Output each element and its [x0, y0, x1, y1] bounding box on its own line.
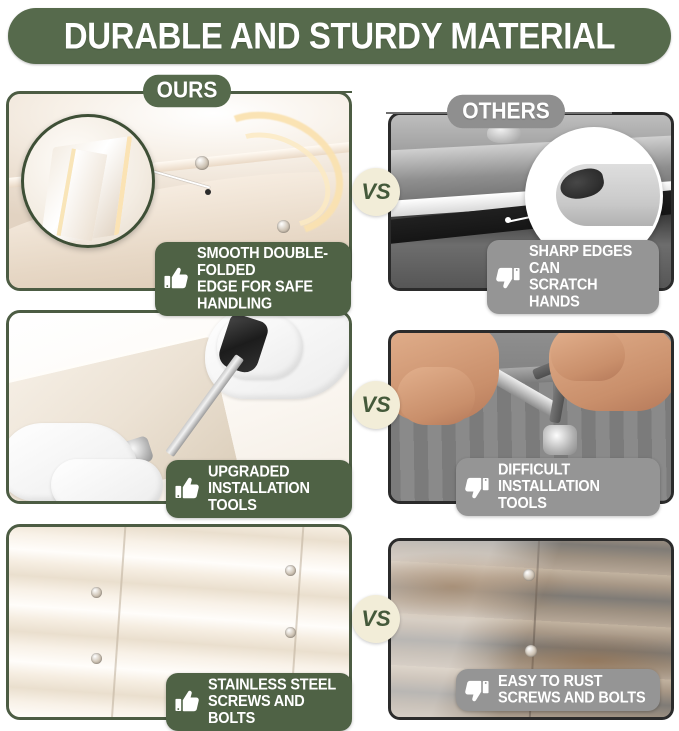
- others-connector-line-left: [386, 112, 454, 114]
- page-title: DURABLE AND STURDY MATERIAL: [64, 15, 615, 58]
- ours-connector-line-left: [26, 91, 148, 93]
- vs-badge-row1: VS: [352, 168, 400, 216]
- magnifier-circle-folded-edge: [21, 114, 155, 248]
- ours-connector-line-right: [226, 91, 352, 93]
- wrench-head-on-bolt: [543, 425, 577, 455]
- vs-label: VS: [361, 606, 390, 632]
- header-banner: DURABLE AND STURDY MATERIAL: [8, 8, 671, 64]
- vs-label: VS: [361, 392, 390, 418]
- vs-label: VS: [361, 179, 390, 205]
- others-connector-line-right: [560, 112, 612, 114]
- caption-ours-hardware-quality: STAINLESS STEEL SCREWS AND BOLTS: [166, 673, 352, 731]
- caption-text: DIFFICULT INSTALLATION TOOLS: [498, 462, 650, 513]
- thumbs-down-icon: [462, 675, 492, 705]
- stainless-screw: [285, 627, 296, 638]
- stainless-screw: [285, 565, 296, 576]
- column-badge-ours: OURS: [143, 75, 231, 107]
- rusted-screw: [523, 569, 535, 581]
- thumbs-down-icon: [462, 472, 492, 502]
- caption-others-rusty-screws: EASY TO RUST SCREWS AND BOLTS: [456, 669, 660, 711]
- caption-ours-installation-tools: UPGRADED INSTALLATION TOOLS: [166, 460, 352, 518]
- vs-badge-row2: VS: [352, 381, 400, 429]
- screw-head: [195, 156, 209, 170]
- column-badge-others-label: OTHERS: [462, 99, 550, 125]
- caption-text: STAINLESS STEEL SCREWS AND BOLTS: [208, 677, 342, 728]
- caption-others-sharp-edge: SHARP EDGES CAN SCRATCH HANDS: [487, 240, 659, 314]
- screw-head: [277, 220, 290, 233]
- vs-badge-row3: VS: [352, 595, 400, 643]
- bare-fingers-right: [551, 330, 625, 381]
- bare-fingers-left: [397, 367, 475, 425]
- caption-text: EASY TO RUST SCREWS AND BOLTS: [498, 673, 645, 707]
- rusted-screw: [525, 645, 537, 657]
- caption-text: SMOOTH DOUBLE-FOLDED EDGE FOR SAFE HANDL…: [197, 245, 341, 313]
- callout-pointer-dot: [505, 217, 511, 223]
- thumbs-down-icon: [493, 262, 523, 292]
- gloved-fingers-lower: [51, 459, 163, 504]
- stainless-screw: [91, 587, 102, 598]
- caption-ours-edge-safety: SMOOTH DOUBLE-FOLDED EDGE FOR SAFE HANDL…: [155, 242, 351, 316]
- caption-others-installation-tools: DIFFICULT INSTALLATION TOOLS: [456, 458, 660, 516]
- thumbs-up-icon: [161, 264, 191, 294]
- caption-text: UPGRADED INSTALLATION TOOLS: [208, 464, 342, 515]
- callout-pointer-dot: [205, 189, 211, 195]
- caption-text: SHARP EDGES CAN SCRATCH HANDS: [529, 243, 649, 311]
- infographic-root: DURABLE AND STURDY MATERIAL OURS OTHERS: [0, 0, 679, 731]
- column-badge-ours-label: OURS: [157, 78, 218, 104]
- panel-seam: [108, 524, 127, 720]
- column-badge-others: OTHERS: [447, 95, 565, 128]
- thumbs-up-icon: [172, 474, 202, 504]
- stainless-screw: [91, 653, 102, 664]
- thumbs-up-icon: [172, 687, 202, 717]
